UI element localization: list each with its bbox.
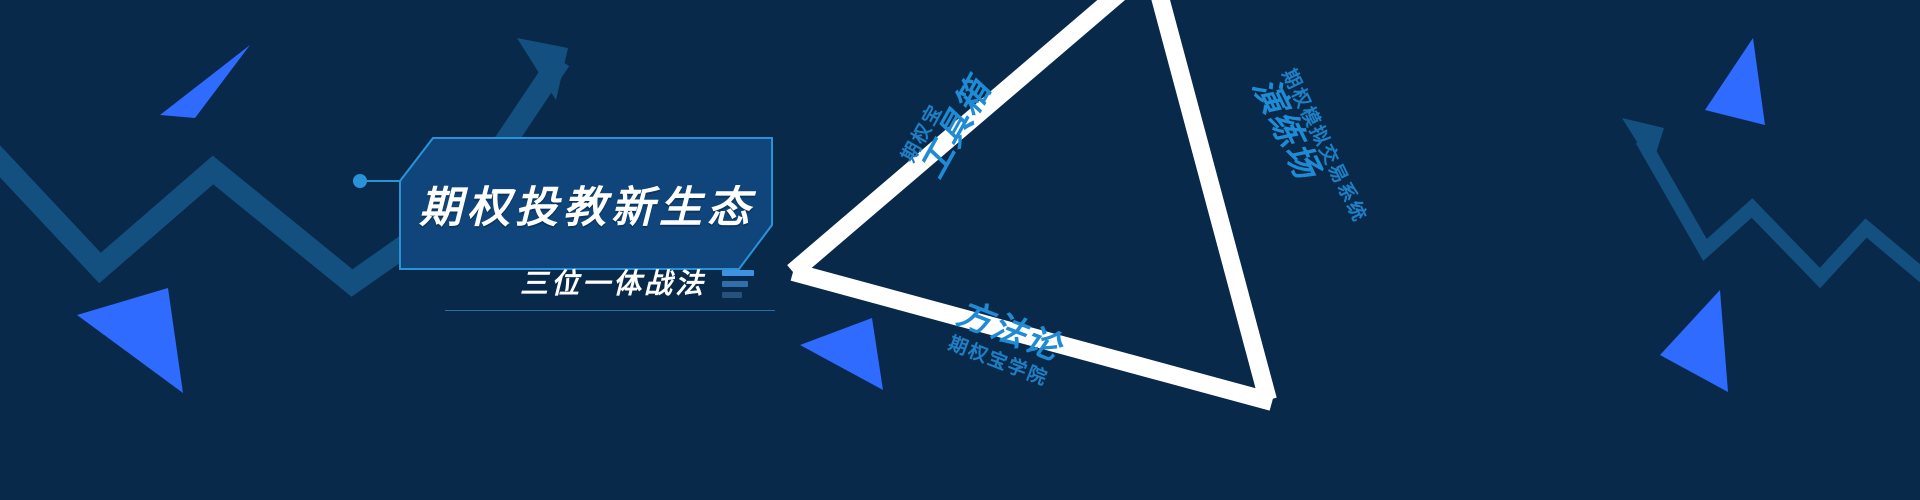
subtitle-text: 三位一体战法 [520,262,706,302]
page-title: 期权投教新生态 [393,137,773,270]
three-bars-icon [722,270,754,298]
connector-dot [353,174,367,188]
subtitle-row: 三位一体战法 [520,262,754,302]
title-badge: 期权投教新生态 [393,137,773,270]
subtitle-divider [445,310,775,311]
promo-banner: 期权投教新生态 三位一体战法 期权宝 工具箱 期权模拟交易系统 演练场 方法论 … [0,0,1920,500]
